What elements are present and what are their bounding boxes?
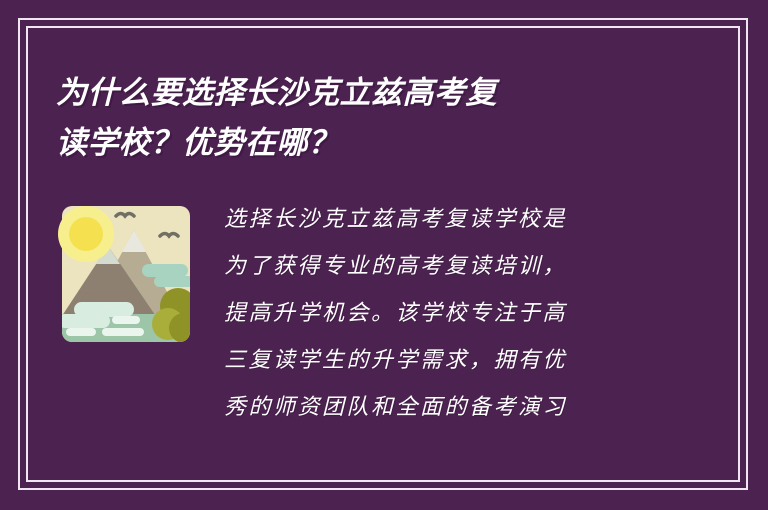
poster-canvas: 为什么要选择长沙克立兹高考复 读学校？优势在哪？ <box>0 0 768 510</box>
body-text-line-4: 三复读学生的升学需求，拥有优 <box>224 337 644 384</box>
content-row: 选择长沙克立兹高考复读学校是 为了获得专业的高考复读培训， 提高升学机会。该学校… <box>56 196 656 431</box>
body-text: 选择长沙克立兹高考复读学校是 为了获得专业的高考复读培训， 提高升学机会。该学校… <box>224 196 644 431</box>
page-title-line-2: 读学校？优势在哪？ <box>56 118 666 168</box>
mountain-landscape-icon <box>56 202 196 350</box>
page-title: 为什么要选择长沙克立兹高考复 读学校？优势在哪？ <box>56 68 666 168</box>
body-text-line-3: 提高升学机会。该学校专注于高 <box>224 290 644 337</box>
page-title-line-1: 为什么要选择长沙克立兹高考复 <box>56 68 666 118</box>
body-text-line-5: 秀的师资团队和全面的备考演习 <box>224 384 644 431</box>
body-text-line-2: 为了获得专业的高考复读培训， <box>224 243 644 290</box>
illustration-container <box>56 196 198 350</box>
body-text-line-1: 选择长沙克立兹高考复读学校是 <box>224 196 644 243</box>
